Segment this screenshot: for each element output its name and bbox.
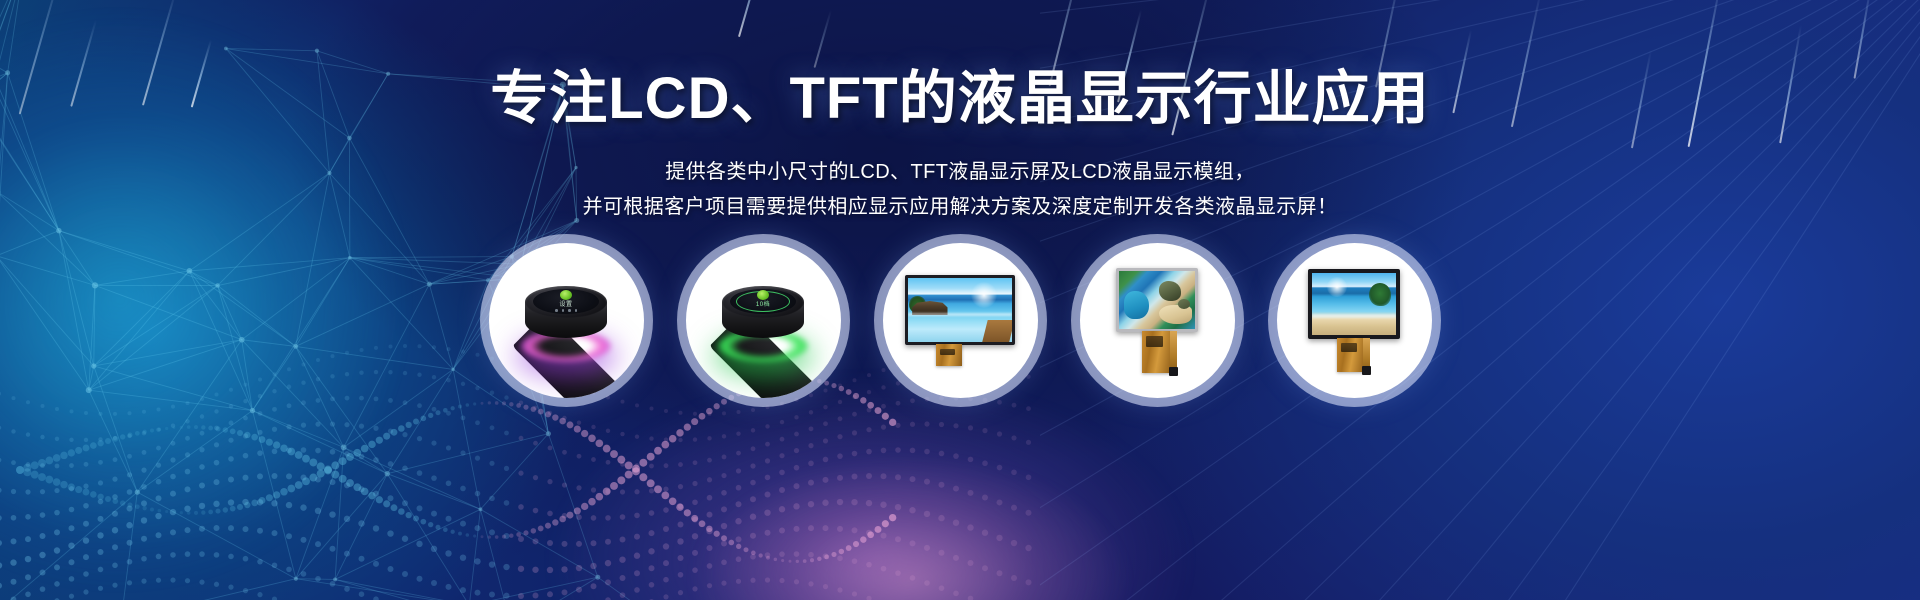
fpc-connector xyxy=(1169,367,1178,376)
product-circle-2[interactable]: 10档 xyxy=(686,243,841,398)
display-scene-pool xyxy=(908,278,1012,342)
fpc-ribbon-cable xyxy=(1337,338,1365,372)
smart-puck-device-purple: 设置 xyxy=(491,256,641,386)
device-indicator-dots xyxy=(555,309,577,312)
fpc-ribbon-cable xyxy=(1142,331,1172,373)
lcd-panel-display xyxy=(1116,268,1198,332)
device-screen-label-2: 10档 xyxy=(756,299,770,308)
product-image-5 xyxy=(1277,243,1432,398)
device-screen: 10档 xyxy=(730,289,796,314)
device-screen: 设置 xyxy=(533,289,599,314)
tft-lcd-module-coastal xyxy=(1116,268,1198,373)
fpc-ribbon-cable xyxy=(936,344,962,366)
wide-tft-lcd-panel xyxy=(905,275,1015,366)
smart-puck-device-green: 10档 xyxy=(688,256,838,386)
product-circle-row: 设置 10档 xyxy=(0,243,1920,398)
product-circle-5[interactable] xyxy=(1277,243,1432,398)
tft-lcd-module-beach xyxy=(1308,269,1400,372)
lcd-panel-display xyxy=(1308,269,1400,339)
product-image-1: 设置 xyxy=(489,243,644,398)
display-scene-coast xyxy=(1119,271,1195,329)
fpc-connector xyxy=(1362,366,1371,375)
lcd-panel-display xyxy=(905,275,1015,345)
product-circle-4[interactable] xyxy=(1080,243,1235,398)
device-screen-label-1: 设置 xyxy=(559,299,572,308)
product-image-3 xyxy=(883,243,1038,398)
product-circle-1[interactable]: 设置 xyxy=(489,243,644,398)
product-circle-3[interactable] xyxy=(883,243,1038,398)
banner-content: 专注LCD、TFT的液晶显示行业应用 提供各类中小尺寸的LCD、TFT液晶显示屏… xyxy=(0,0,1920,225)
subtitle-line-1: 提供各类中小尺寸的LCD、TFT液晶显示屏及LCD液晶显示模组， xyxy=(0,133,1920,190)
subtitle-line-2: 并可根据客户项目需要提供相应显示应用解决方案及深度定制开发各类液晶显示屏！ xyxy=(0,190,1920,225)
display-scene-beach xyxy=(1312,273,1396,335)
product-image-4 xyxy=(1080,243,1235,398)
page-title: 专注LCD、TFT的液晶显示行业应用 xyxy=(0,0,1920,133)
product-image-2: 10档 xyxy=(686,243,841,398)
hero-banner: 专注LCD、TFT的液晶显示行业应用 提供各类中小尺寸的LCD、TFT液晶显示屏… xyxy=(0,0,1920,600)
